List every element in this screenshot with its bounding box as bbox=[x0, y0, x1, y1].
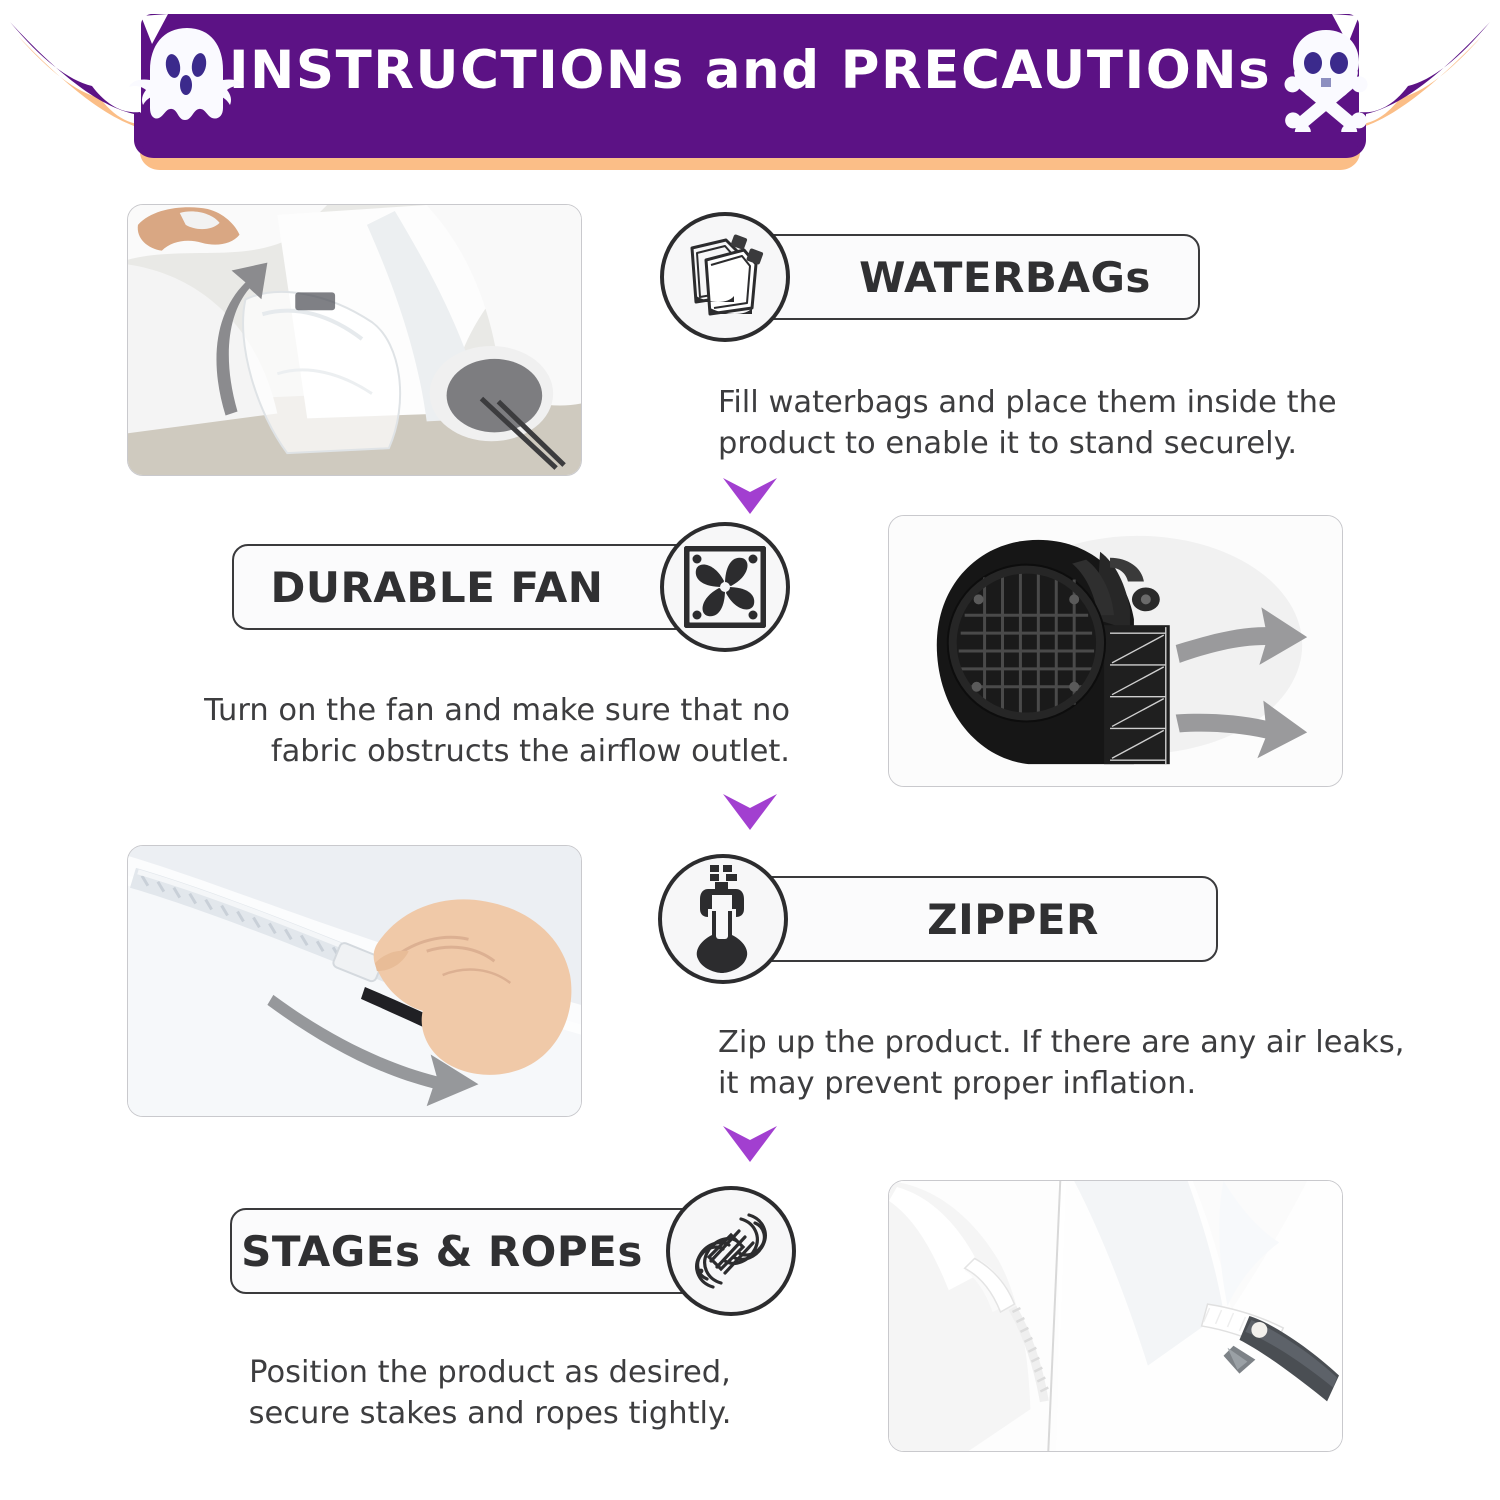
ghost-icon bbox=[128, 24, 246, 134]
step-row-waterbags: WATERBAGs Fill waterbags and plac bbox=[0, 200, 1500, 490]
durable-fan-label: DURABLE FAN bbox=[271, 563, 604, 612]
waterbags-pill[interactable]: WATERBAGs bbox=[740, 234, 1200, 320]
connector-arrow-2 bbox=[715, 790, 785, 834]
stages-ropes-label: STAGEs & ROPEs bbox=[241, 1227, 643, 1276]
waterbags-icon-circle[interactable] bbox=[660, 212, 790, 342]
zipper-pill[interactable]: ZIPPER bbox=[738, 876, 1218, 962]
fan-icon bbox=[684, 546, 766, 628]
chevron-down-icon bbox=[715, 1122, 785, 1166]
stages-ropes-description: Position the product as desired, secure … bbox=[180, 1352, 800, 1434]
waterbag-photo bbox=[127, 204, 582, 476]
stake-rope-photo-illustration bbox=[889, 1181, 1342, 1451]
stages-ropes-pill[interactable]: STAGEs & ROPEs bbox=[230, 1208, 720, 1294]
stages-ropes-label-group: STAGEs & ROPEs bbox=[230, 1186, 810, 1316]
zipper-label-group: ZIPPER bbox=[658, 854, 1218, 984]
durable-fan-label-group: DURABLE FAN bbox=[232, 522, 792, 652]
waterbags-label: WATERBAGs bbox=[859, 253, 1151, 302]
header-banner: INSTRUCTIONs and PRECAUTIONs bbox=[0, 0, 1500, 175]
waterbags-icon bbox=[682, 234, 768, 320]
waterbag-photo-illustration bbox=[128, 205, 581, 475]
fan-photo-illustration bbox=[889, 516, 1342, 786]
stages-ropes-icon-circle[interactable] bbox=[666, 1186, 796, 1316]
zipper-description: Zip up the product. If there are any air… bbox=[718, 1022, 1418, 1104]
zipper-photo bbox=[127, 845, 582, 1117]
step-row-durable-fan: DURABLE FAN bbox=[0, 512, 1500, 804]
chevron-down-icon bbox=[715, 790, 785, 834]
fan-photo bbox=[888, 515, 1343, 787]
step-row-stages-ropes: STAGEs & ROPEs bbox=[0, 1176, 1500, 1466]
zipper-icon-circle[interactable] bbox=[658, 854, 788, 984]
durable-fan-description: Turn on the fan and make sure that no fa… bbox=[130, 690, 790, 772]
stake-rope-photo bbox=[888, 1180, 1343, 1452]
zipper-label: ZIPPER bbox=[927, 895, 1099, 944]
waterbags-label-group: WATERBAGs bbox=[660, 212, 1200, 342]
skull-and-crossbones-icon bbox=[1280, 28, 1372, 132]
waterbags-description: Fill waterbags and place them inside the… bbox=[718, 382, 1378, 464]
instruction-infographic: INSTRUCTIONs and PRECAUTIONs bbox=[0, 0, 1500, 1500]
rope-coil-icon bbox=[687, 1207, 775, 1295]
zipper-photo-illustration bbox=[128, 846, 581, 1116]
durable-fan-pill[interactable]: DURABLE FAN bbox=[232, 544, 712, 630]
step-row-zipper: ZIPPER Zip up bbox=[0, 842, 1500, 1134]
connector-arrow-3 bbox=[715, 1122, 785, 1166]
durable-fan-icon-circle[interactable] bbox=[660, 522, 790, 652]
zipper-icon bbox=[686, 865, 760, 973]
